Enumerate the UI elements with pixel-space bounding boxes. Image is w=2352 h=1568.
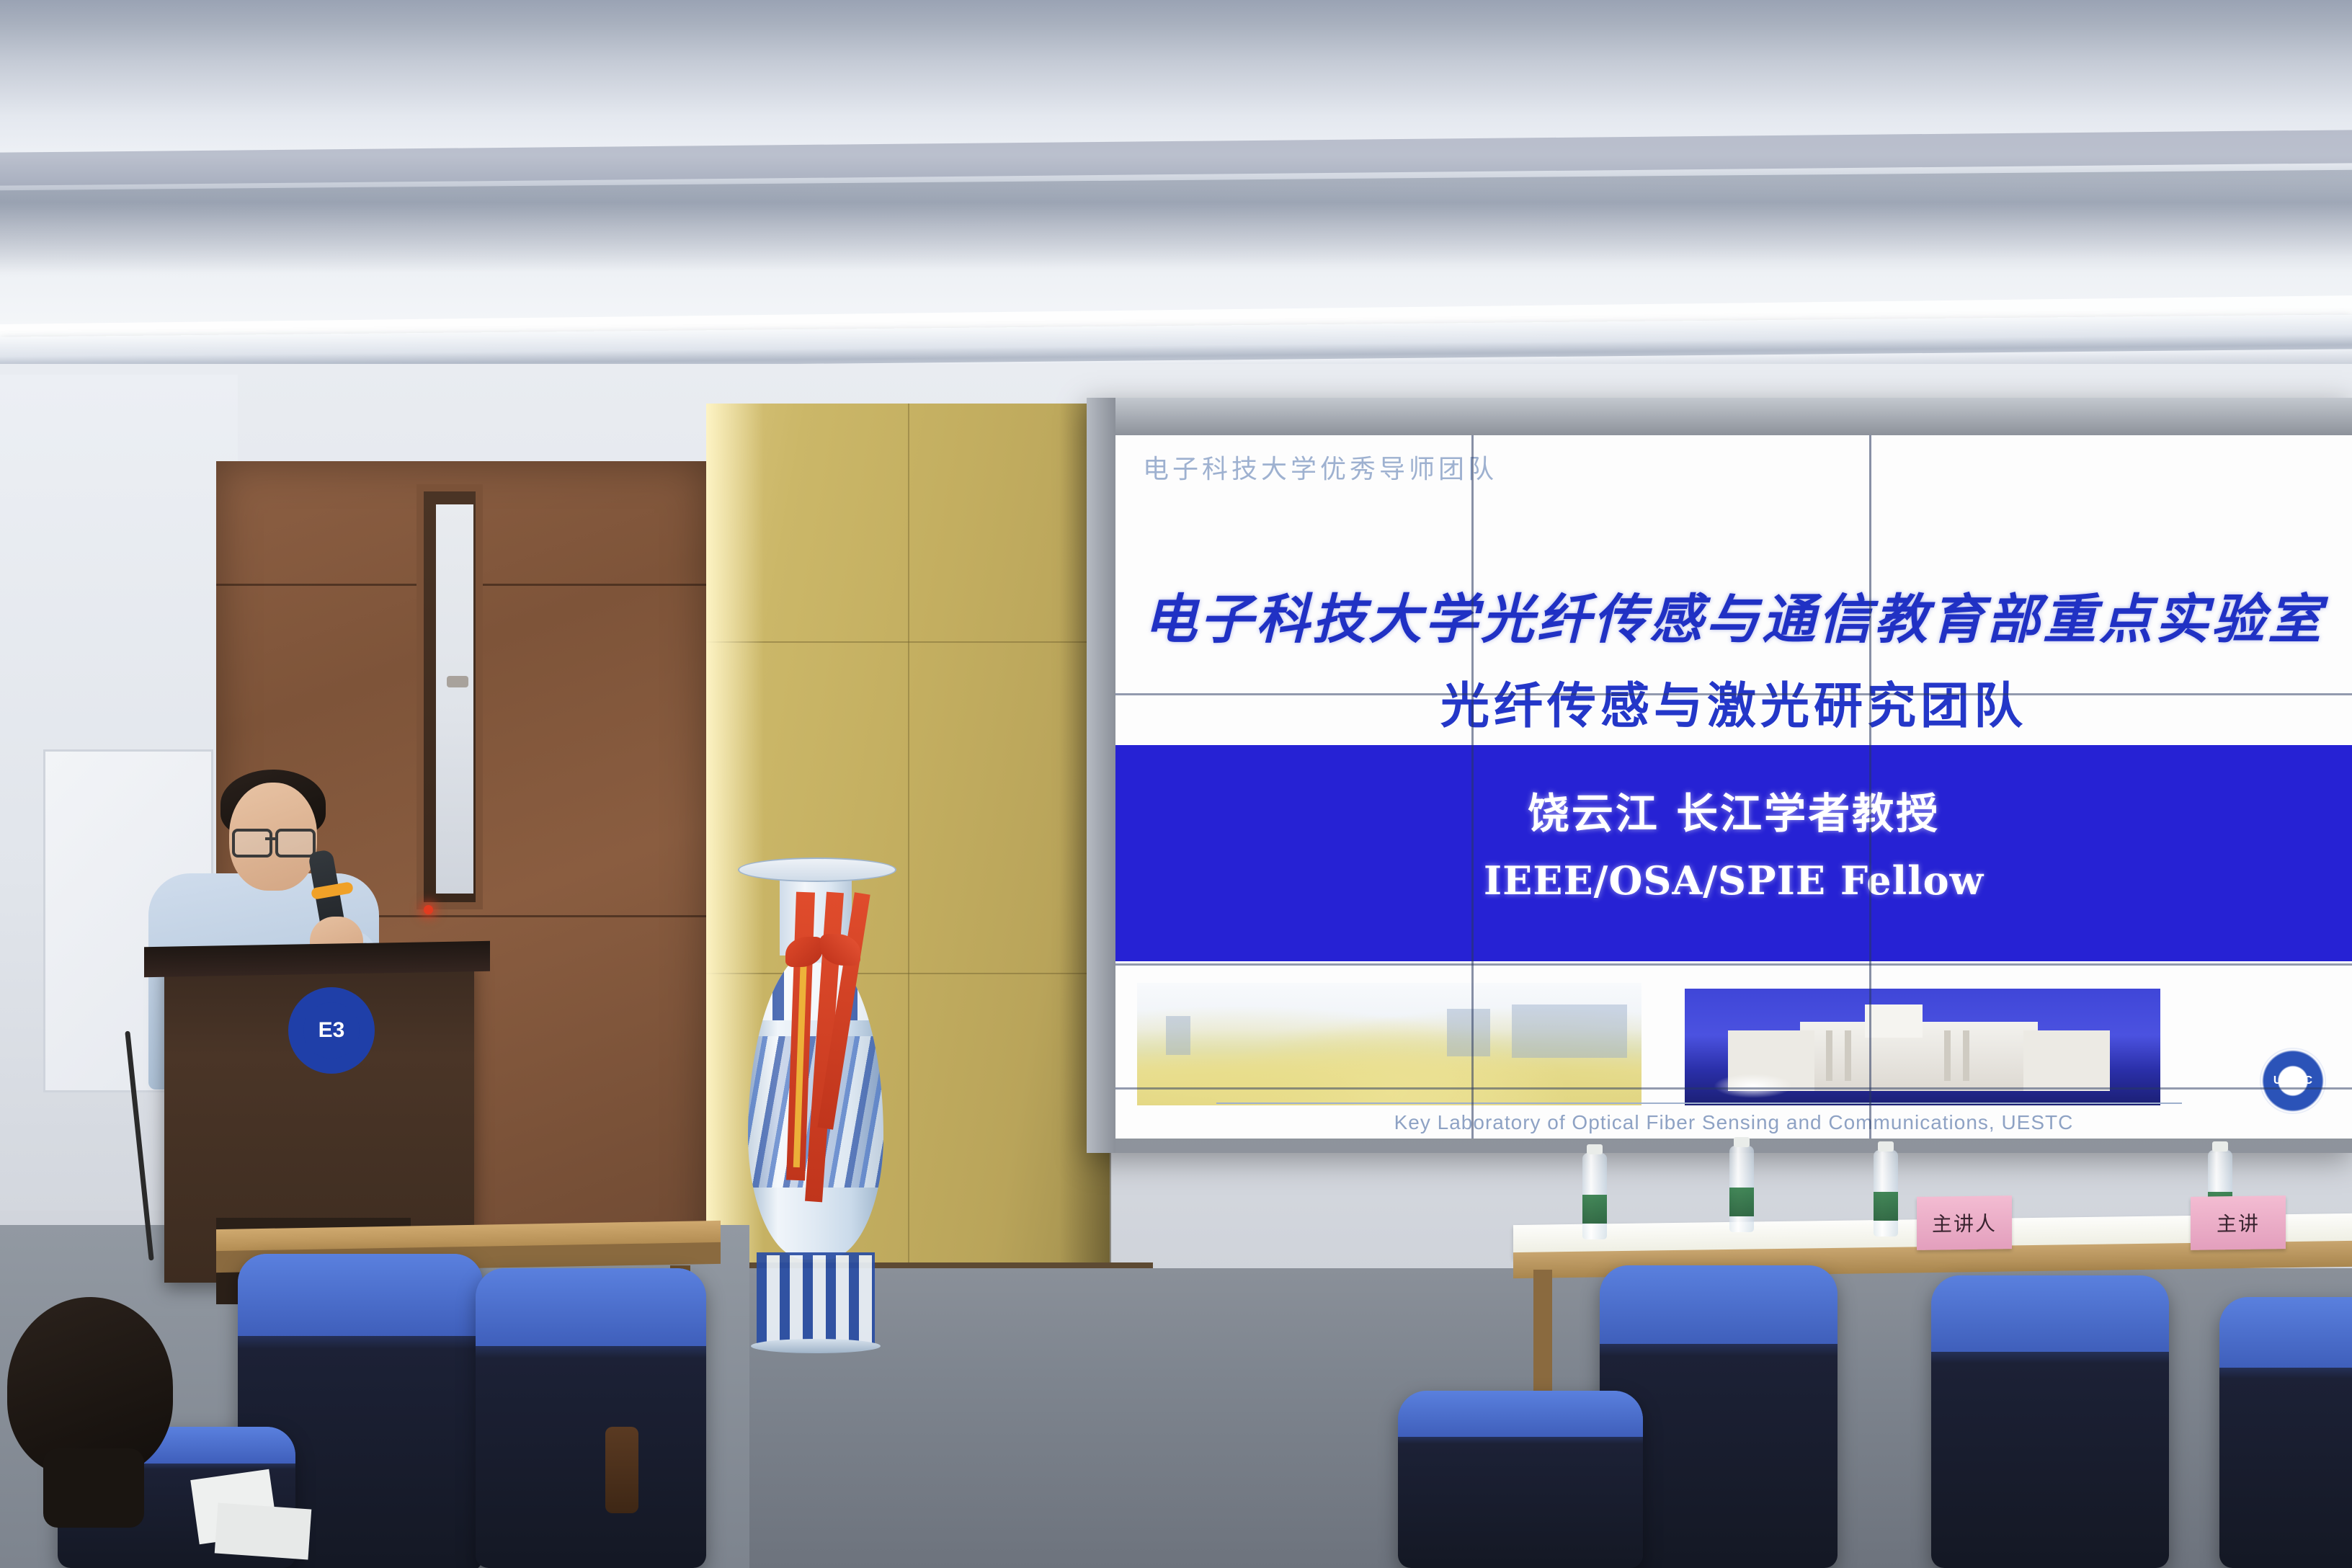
presentation-slide: 电子科技大学优秀导师团队 电子科技大学光纤传感与通信教育部重点实验室 光纤传感与… bbox=[1115, 435, 2352, 1139]
red-indicator-light-icon bbox=[424, 905, 433, 914]
slide-speaker-name: 饶云江 长江学者教授 bbox=[1115, 780, 2352, 840]
seat bbox=[476, 1268, 706, 1568]
window-reflection-mark bbox=[447, 676, 468, 687]
seat bbox=[2219, 1297, 2352, 1568]
seat-armrest bbox=[605, 1427, 638, 1513]
slide-speaker-band bbox=[1115, 745, 2352, 961]
vase-foot bbox=[757, 1252, 875, 1347]
name-card: 主讲人 bbox=[1917, 1195, 2012, 1250]
speaker-glasses-bridge bbox=[265, 837, 278, 840]
slide-footer-rule bbox=[1216, 1102, 2182, 1104]
emblem-glyph: E3 bbox=[303, 1002, 360, 1059]
seat bbox=[1398, 1391, 1643, 1568]
speaker-glasses-left-lens bbox=[232, 829, 272, 857]
vase-base bbox=[751, 1339, 881, 1353]
uestc-logo-text: UESTC bbox=[2273, 1074, 2312, 1087]
slide-corner-label: 电子科技大学优秀导师团队 bbox=[1143, 448, 1497, 486]
university-emblem-icon: E3 bbox=[288, 987, 375, 1074]
lecture-hall-scene: 电子科技大学优秀导师团队 电子科技大学光纤传感与通信教育部重点实验室 光纤传感与… bbox=[0, 0, 2352, 1568]
slide-title-line2: 光纤传感与激光研究团队 bbox=[1115, 666, 2352, 737]
name-card: 主讲 bbox=[2191, 1195, 2286, 1250]
vase-mouth bbox=[738, 857, 896, 882]
audience-member-neck bbox=[43, 1448, 144, 1528]
porcelain-vase bbox=[744, 857, 888, 1355]
video-wall-top-rail bbox=[1087, 398, 2352, 435]
slide-title-line1: 电子科技大学光纤传感与通信教育部重点实验室 bbox=[1115, 576, 2352, 654]
wall-slot-window-glass bbox=[436, 504, 473, 894]
seat bbox=[1931, 1275, 2169, 1568]
paper-sheet bbox=[215, 1503, 312, 1560]
water-bottle bbox=[1874, 1150, 1898, 1237]
slide-speaker-fellowship: IEEE/OSA/SPIE Fellow bbox=[1115, 857, 2352, 904]
podium-top-surface bbox=[144, 941, 490, 977]
water-bottle bbox=[1582, 1153, 1607, 1239]
slide-footer-text: Key Laboratory of Optical Fiber Sensing … bbox=[1115, 1111, 2352, 1134]
uestc-logo-icon: UESTC bbox=[2260, 1048, 2326, 1114]
video-wall-left-rail bbox=[1087, 398, 1115, 1153]
speaker-glasses-right-lens bbox=[275, 829, 316, 857]
red-ribbon-bow bbox=[785, 932, 860, 971]
water-bottle bbox=[1729, 1146, 1754, 1232]
video-wall-screen[interactable]: 电子科技大学优秀导师团队 电子科技大学光纤传感与通信教育部重点实验室 光纤传感与… bbox=[1115, 435, 2352, 1139]
